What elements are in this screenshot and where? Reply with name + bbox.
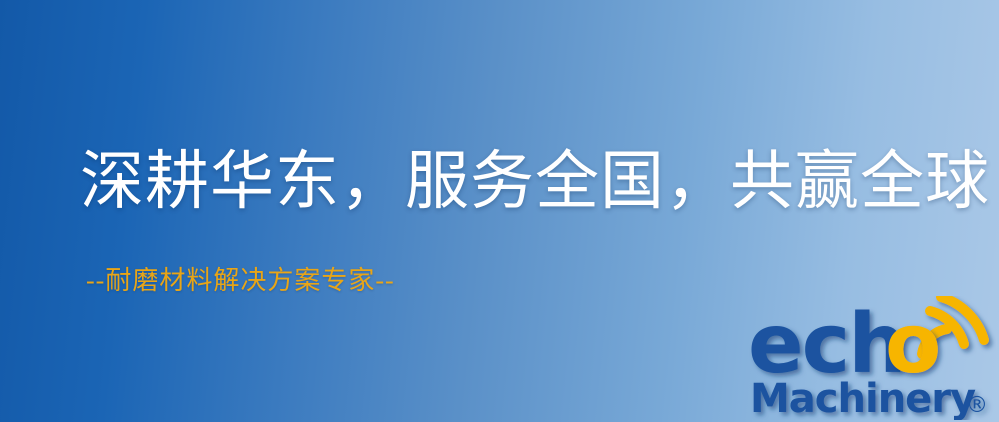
company-logo[interactable]: ech o Machinery ® [748,296,996,420]
logo-svg: ech o Machinery ® [748,296,996,420]
logo-trademark-symbol: ® [966,393,988,418]
banner-headline: 深耕华东，服务全国，共赢全球 [80,150,990,214]
banner-subtitle: --耐磨材料解决方案专家-- [86,268,395,294]
logo-tagline: Machinery [750,376,976,420]
hero-banner: 深耕华东，服务全国，共赢全球 --耐磨材料解决方案专家-- ech o [0,0,999,422]
